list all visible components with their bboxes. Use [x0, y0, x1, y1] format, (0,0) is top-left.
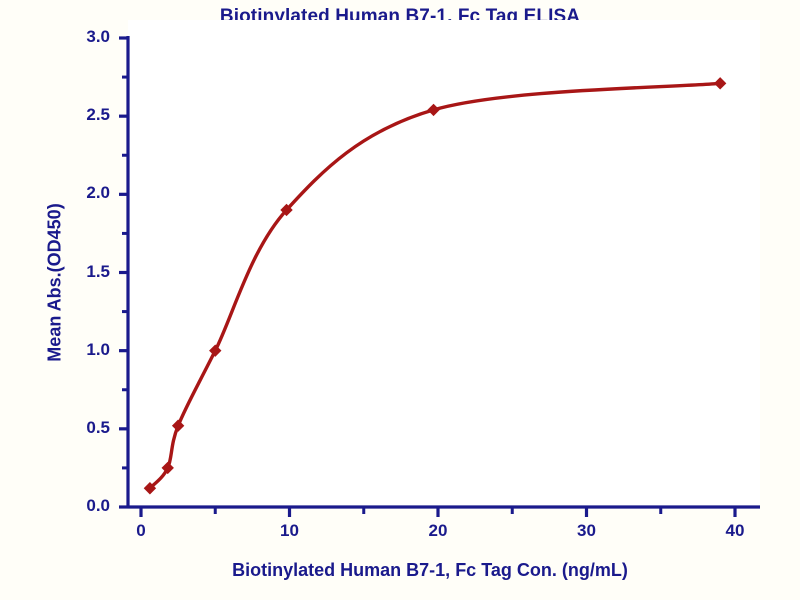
x-tick-label: 20 [408, 521, 468, 541]
y-tick-label: 2.0 [50, 183, 110, 203]
y-tick-label: 1.5 [50, 262, 110, 282]
y-tick-label: 0.0 [50, 496, 110, 516]
y-tick-label: 3.0 [50, 27, 110, 47]
y-tick-label: 0.5 [50, 418, 110, 438]
y-tick-label: 1.0 [50, 340, 110, 360]
x-tick-label: 10 [260, 521, 320, 541]
x-tick-label: 40 [705, 521, 765, 541]
y-tick-label: 2.5 [50, 105, 110, 125]
plot-area [0, 0, 800, 600]
elisa-chart-figure: Biotinylated Human B7-1, Fc Tag ELISA 0.… [0, 0, 800, 600]
x-tick-label: 0 [111, 521, 171, 541]
x-tick-label: 30 [557, 521, 617, 541]
